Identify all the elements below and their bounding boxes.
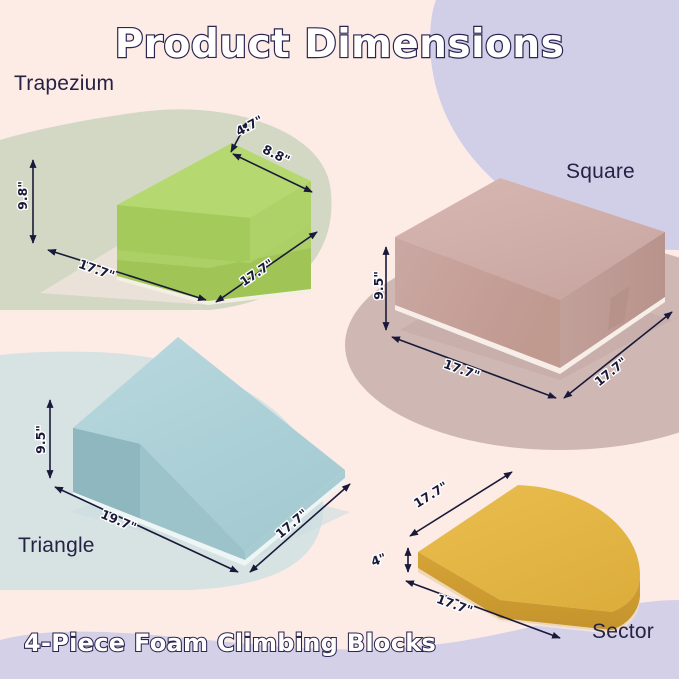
label-square: Square xyxy=(566,160,635,184)
block-sector xyxy=(418,485,640,634)
label-triangle: Triangle xyxy=(18,534,95,558)
block-trapezium xyxy=(40,143,311,305)
infographic-canvas: Product Dimensions 4-Piece Foam Climbing… xyxy=(0,0,679,679)
dim-trapezium-height: 9.8" xyxy=(15,181,30,210)
label-trapezium: Trapezium xyxy=(14,72,114,96)
dim-square-height: 9.5" xyxy=(371,271,386,300)
sector-top xyxy=(418,485,640,612)
label-sector: Sector xyxy=(592,620,654,644)
page-caption: 4-Piece Foam Climbing Blocks xyxy=(24,629,436,657)
block-triangle xyxy=(70,337,350,566)
blocks-illustration xyxy=(0,0,679,679)
page-title: Product Dimensions xyxy=(0,22,679,67)
block-square xyxy=(395,178,672,380)
dim-triangle-height: 9.5" xyxy=(33,425,48,454)
